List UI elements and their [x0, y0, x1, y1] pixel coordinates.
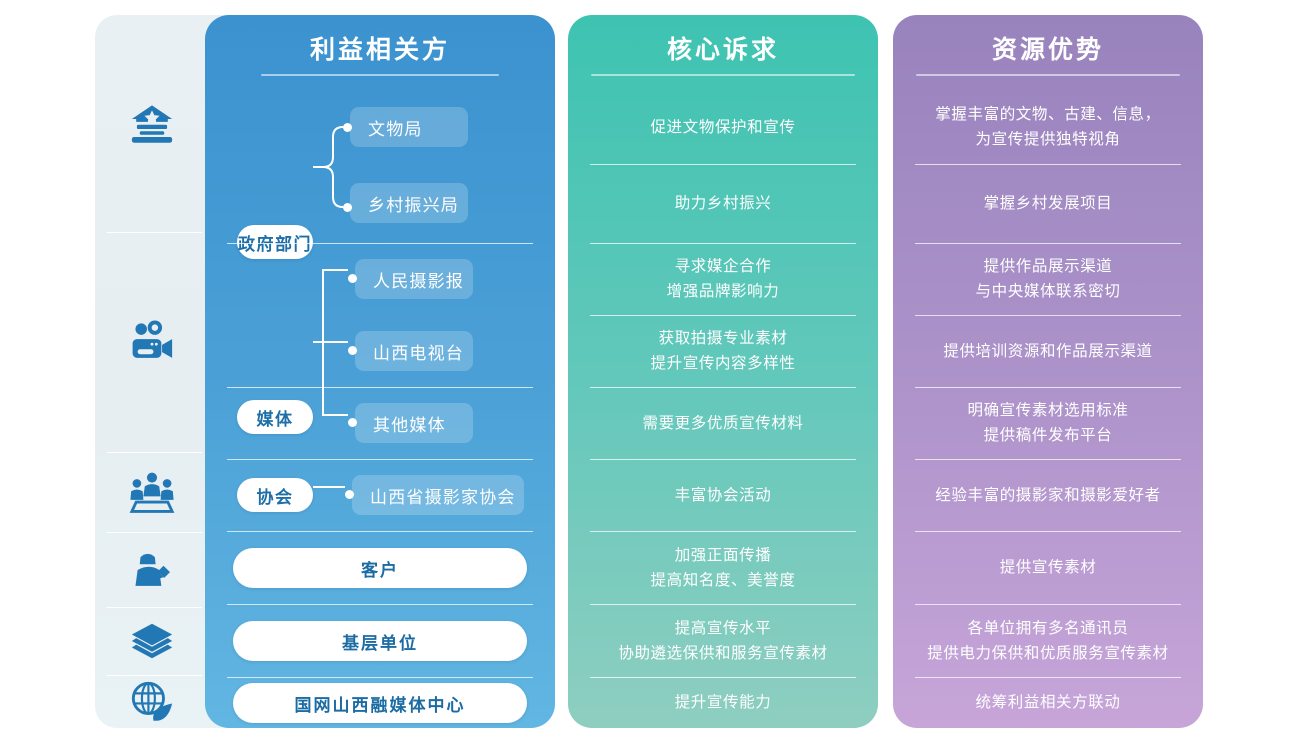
demand-cell: 需要更多优质宣传材料 — [628, 411, 817, 436]
stakeholder-label: 其他媒体 — [373, 411, 446, 436]
demand-cell: 提高宣传水平 协助遴选保供和服务宣传素材 — [604, 616, 841, 666]
resource-header: 资源优势 — [893, 15, 1203, 90]
government-building-icon — [129, 101, 175, 147]
table-row: 加强正面传播 提高知名度、美誉度 — [568, 531, 878, 604]
demand-cell: 丰富协会活动 — [661, 483, 786, 508]
layers-icon — [129, 618, 175, 664]
table-row: 提供宣传素材 — [893, 531, 1203, 604]
table-row: 提供培训资源和作品展示渠道 — [893, 315, 1203, 387]
table-row: 提高宣传水平 协助遴选保供和服务宣传素材 — [568, 604, 878, 677]
table-row: 基层单位 — [205, 604, 555, 677]
table-row: 文物局 — [205, 90, 555, 164]
table-row: 助力乡村振兴 — [568, 164, 878, 243]
rail-cell-media — [95, 232, 208, 452]
demand-cell: 寻求媒企合作 增强品牌影响力 — [653, 254, 794, 304]
table-row: 需要更多优质宣传材料 — [568, 387, 878, 459]
table-row: 各单位拥有多名通讯员 提供电力保供和优质服务宣传素材 — [893, 604, 1203, 677]
stakeholder-item-sx-photographers[interactable]: 山西省摄影家协会 — [352, 475, 524, 515]
stakeholder-label: 人民摄影报 — [373, 267, 464, 292]
stakeholder-item-customer[interactable]: 客户 — [233, 548, 527, 588]
table-row: 经验丰富的摄影家和摄影爱好者 — [893, 459, 1203, 531]
connector-dot — [343, 123, 352, 132]
rail-cell-media-center — [95, 675, 208, 728]
header-divider — [261, 74, 499, 76]
connector-dot — [345, 490, 354, 499]
table-row: 丰富协会活动 — [568, 459, 878, 531]
resource-cell: 经验丰富的摄影家和摄影爱好者 — [921, 483, 1174, 508]
stakeholder-label: 山西电视台 — [373, 339, 464, 364]
demand-cell: 获取拍摄专业素材 提升宣传内容多样性 — [637, 326, 810, 376]
stakeholder-item-other-media[interactable]: 其他媒体 — [355, 403, 473, 443]
resource-cell: 提供培训资源和作品展示渠道 — [929, 339, 1166, 364]
stakeholder-matrix-diagram: 利益相关方 文物局 — [0, 0, 1292, 751]
resource-title: 资源优势 — [992, 35, 1104, 65]
table-row: 人民摄影报 — [205, 243, 555, 315]
stakeholder-item-xiangcun[interactable]: 乡村振兴局 — [350, 183, 468, 223]
column-resource: 资源优势 掌握丰富的文物、古建、信息， 为宣传提供独特视角 掌握乡村发展项目 提… — [893, 15, 1203, 728]
resource-cell: 提供宣传素材 — [986, 555, 1111, 580]
stakeholder-header: 利益相关方 — [205, 15, 555, 90]
table-row: 提升宣传能力 — [568, 677, 878, 728]
demand-cell: 助力乡村振兴 — [661, 191, 786, 216]
table-row: 协会 山西省摄影家协会 — [205, 459, 555, 531]
table-row: 其他媒体 — [205, 387, 555, 459]
connector-dot — [343, 203, 352, 212]
connector-dot — [348, 418, 357, 427]
demand-cell: 提升宣传能力 — [661, 690, 786, 715]
resource-cell: 掌握乡村发展项目 — [970, 191, 1127, 216]
stakeholder-item-sxtv[interactable]: 山西电视台 — [355, 331, 473, 371]
stakeholder-label: 国网山西融媒体中心 — [295, 691, 466, 716]
resource-cell: 掌握丰富的文物、古建、信息， 为宣传提供独特视角 — [921, 102, 1174, 152]
rail-cell-grassroots — [95, 607, 208, 675]
table-row: 提供作品展示渠道 与中央媒体联系密切 — [893, 243, 1203, 315]
person-pencil-icon — [129, 547, 175, 593]
header-divider — [591, 74, 855, 76]
table-row: 山西电视台 — [205, 315, 555, 387]
table-row: 统筹利益相关方联动 — [893, 677, 1203, 728]
demand-header: 核心诉求 — [568, 15, 878, 90]
table-row: 寻求媒企合作 增强品牌影响力 — [568, 243, 878, 315]
column-stakeholder: 利益相关方 文物局 — [205, 15, 555, 728]
meeting-people-icon — [129, 469, 175, 515]
stakeholder-rows: 文物局 政府部门 乡村振兴局 人民摄影报 — [205, 90, 555, 728]
demand-cell: 促进文物保护和宣传 — [637, 115, 810, 140]
demand-rows: 促进文物保护和宣传 助力乡村振兴 寻求媒企合作 增强品牌影响力 获取拍摄专业素材… — [568, 90, 878, 728]
stakeholder-label: 客户 — [361, 556, 399, 581]
table-row: 促进文物保护和宣传 — [568, 90, 878, 164]
table-row: 掌握丰富的文物、古建、信息， 为宣传提供独特视角 — [893, 90, 1203, 164]
demand-cell: 加强正面传播 提高知名度、美誉度 — [637, 543, 810, 593]
stakeholder-item-media-center[interactable]: 国网山西融媒体中心 — [233, 683, 527, 723]
rail-cell-association — [95, 452, 208, 532]
table-row: 掌握乡村发展项目 — [893, 164, 1203, 243]
video-camera-icon — [129, 319, 175, 365]
stakeholder-item-renmin[interactable]: 人民摄影报 — [355, 259, 473, 299]
resource-rows: 掌握丰富的文物、古建、信息， 为宣传提供独特视角 掌握乡村发展项目 提供作品展示… — [893, 90, 1203, 728]
stakeholder-title: 利益相关方 — [310, 35, 450, 65]
group-label: 协会 — [257, 483, 294, 508]
table-row: 明确宣传素材选用标准 提供稿件发布平台 — [893, 387, 1203, 459]
globe-leaf-icon — [129, 679, 175, 725]
table-row: 乡村振兴局 — [205, 164, 555, 243]
stakeholder-item-grassroots[interactable]: 基层单位 — [233, 621, 527, 661]
stakeholder-label: 基层单位 — [342, 629, 418, 654]
header-divider — [916, 74, 1180, 76]
table-row: 国网山西融媒体中心 — [205, 677, 555, 728]
stakeholder-label: 山西省摄影家协会 — [370, 483, 516, 508]
demand-title: 核心诉求 — [667, 35, 779, 65]
rail-cell-customer — [95, 532, 208, 607]
connector-dot — [348, 274, 357, 283]
stakeholder-group-association[interactable]: 协会 — [237, 478, 313, 512]
table-row: 获取拍摄专业素材 提升宣传内容多样性 — [568, 315, 878, 387]
stakeholder-label: 乡村振兴局 — [368, 191, 459, 216]
resource-cell: 各单位拥有多名通讯员 提供电力保供和优质服务宣传素材 — [913, 616, 1183, 666]
connector-dot — [348, 346, 357, 355]
rail-cell-government — [95, 15, 208, 232]
column-demand: 核心诉求 促进文物保护和宣传 助力乡村振兴 寻求媒企合作 增强品牌影响力 — [568, 15, 878, 728]
stakeholder-item-wenwuju[interactable]: 文物局 — [350, 107, 468, 147]
resource-cell: 统筹利益相关方联动 — [962, 690, 1135, 715]
resource-cell: 明确宣传素材选用标准 提供稿件发布平台 — [953, 398, 1142, 448]
table-row: 客户 — [205, 531, 555, 604]
resource-cell: 提供作品展示渠道 与中央媒体联系密切 — [962, 254, 1135, 304]
stakeholder-label: 文物局 — [368, 115, 423, 140]
